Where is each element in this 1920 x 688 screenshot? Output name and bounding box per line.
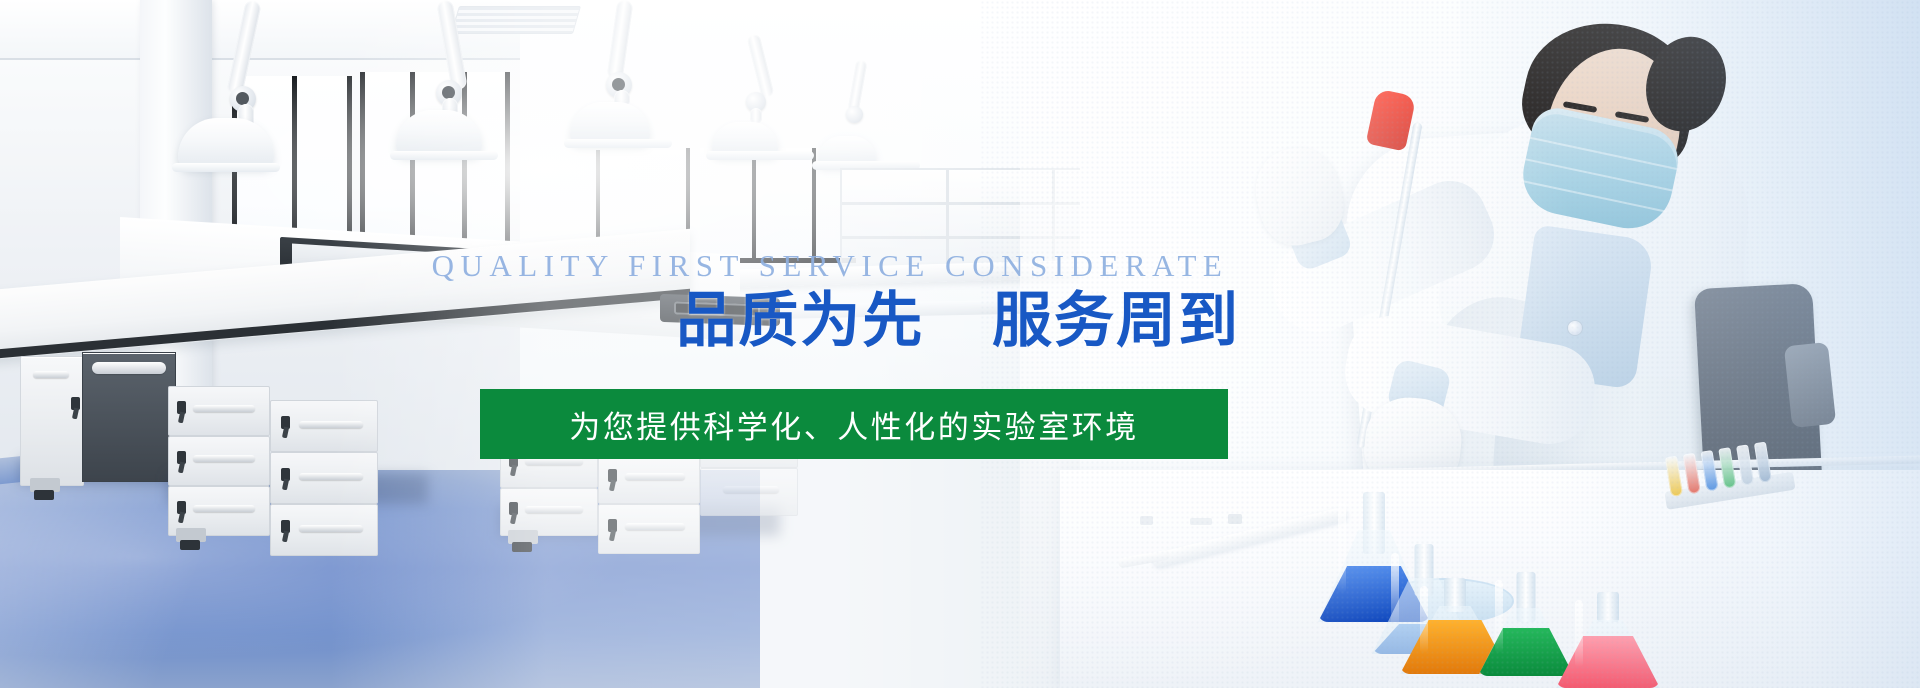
- banner-subtitle-band: 为您提供科学化、人性化的实验室环境: [480, 389, 1228, 459]
- cabinet-foot: [176, 528, 206, 542]
- headline-part-2: 服务周到: [992, 286, 1240, 356]
- headline-part-1: 品质为先: [676, 286, 924, 356]
- drawer: [598, 454, 700, 504]
- pipette-tip-icon: [1228, 514, 1242, 524]
- pipette-tip-icon: [1140, 516, 1153, 525]
- flask-pink: [1556, 592, 1660, 688]
- drawer: [270, 504, 378, 556]
- cabinet-pull-handle: [92, 362, 166, 374]
- cabinet-foot: [30, 478, 60, 492]
- drawer: [700, 468, 798, 516]
- drawer: [598, 504, 700, 554]
- cabinet-door-left: [20, 356, 84, 486]
- fume-hood-dome-5: [818, 136, 876, 166]
- banner-subtitle-text: 为您提供科学化、人性化的实验室环境: [569, 402, 1139, 447]
- coat-button-icon: [1567, 320, 1583, 336]
- drawer: [168, 436, 270, 486]
- cabinet-foot: [508, 530, 538, 544]
- drawer: [270, 452, 378, 504]
- office-chair-armrest: [1784, 342, 1836, 428]
- drawer: [168, 386, 270, 436]
- lab-hero-banner: QUALITY FIRST SERVICE CONSIDERATE 品质为先 服…: [0, 0, 1920, 688]
- drawer: [270, 400, 378, 452]
- fume-hood-dome-4: [712, 122, 778, 156]
- pipette-tip-icon: [1190, 518, 1212, 525]
- banner-eyebrow-text: QUALITY FIRST SERVICE CONSIDERATE: [420, 248, 1240, 284]
- window-mullion: [752, 148, 756, 262]
- banner-headline: 品质为先 服务周到: [560, 290, 1240, 352]
- drawer: [500, 488, 598, 536]
